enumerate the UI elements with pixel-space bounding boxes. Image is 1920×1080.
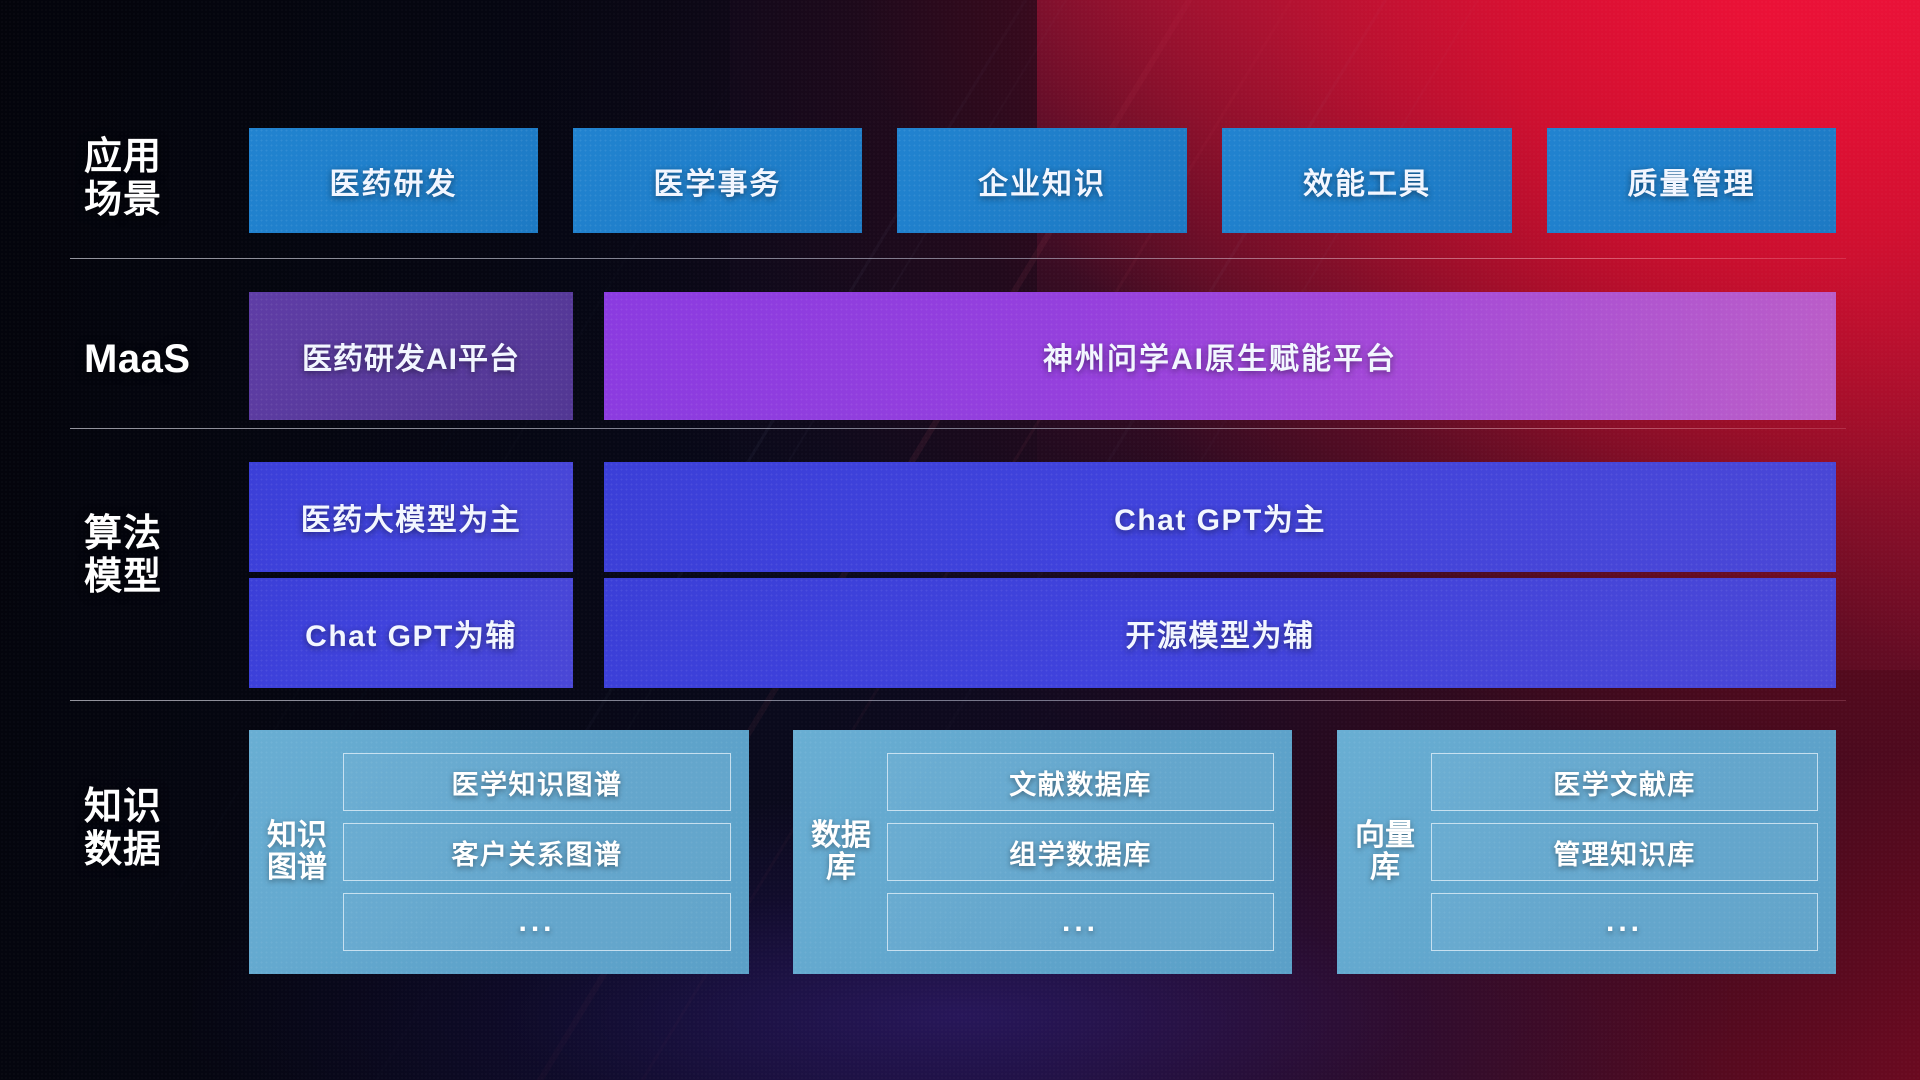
diagram-canvas: 应用 场景 医药研发 医学事务 企业知识 效能工具 质量管理 MaaS 医药研发…	[0, 0, 1920, 1080]
maas-box-shenzhou-wenxue-platform[interactable]: 神州问学AI原生赋能平台	[604, 292, 1836, 420]
row-label-application-line2: 场景	[84, 179, 224, 222]
row-label-maas: MaaS	[84, 337, 224, 382]
app-box-quality-management[interactable]: 质量管理	[1547, 128, 1836, 233]
divider-maas-algorithm	[70, 428, 1846, 429]
knowledge-panel-graph-label: 知识图谱	[265, 820, 329, 885]
row-label-algorithm-line1: 算法	[84, 513, 224, 556]
knowledge-item-medical-literature-store[interactable]: 医学文献库	[1431, 753, 1818, 811]
row-label-algorithm-line2: 模型	[84, 556, 224, 599]
knowledge-item-graph-more[interactable]: ...	[343, 893, 731, 951]
knowledge-item-vector-store-more[interactable]: ...	[1431, 893, 1818, 951]
algo-box-chatgpt-primary[interactable]: Chat GPT为主	[604, 462, 1836, 572]
knowledge-panel-database-items: 文献数据库 组学数据库 ...	[873, 753, 1274, 951]
app-box-medical-affairs[interactable]: 医学事务	[573, 128, 862, 233]
knowledge-item-medical-knowledge-graph[interactable]: 医学知识图谱	[343, 753, 731, 811]
row-label-knowledge-line1: 知识	[84, 786, 224, 829]
knowledge-panel-database-label: 数据库	[809, 820, 873, 885]
app-box-efficiency-tools[interactable]: 效能工具	[1222, 128, 1512, 233]
knowledge-panel-vector-store-items: 医学文献库 管理知识库 ...	[1417, 753, 1818, 951]
row-label-application: 应用 场景	[84, 136, 224, 222]
maas-box-pharma-ai-platform[interactable]: 医药研发AI平台	[249, 292, 573, 420]
row-label-application-line1: 应用	[84, 136, 224, 179]
app-box-enterprise-knowledge[interactable]: 企业知识	[897, 128, 1187, 233]
divider-algorithm-knowledge	[70, 700, 1846, 701]
knowledge-panel-vector-store-label: 向量库	[1353, 820, 1417, 885]
knowledge-panel-database[interactable]: 数据库 文献数据库 组学数据库 ...	[793, 730, 1292, 974]
knowledge-item-omics-database[interactable]: 组学数据库	[887, 823, 1274, 881]
algo-box-opensource-secondary[interactable]: 开源模型为辅	[604, 578, 1836, 688]
knowledge-panel-graph-items: 医学知识图谱 客户关系图谱 ...	[329, 753, 731, 951]
knowledge-item-management-knowledge-store[interactable]: 管理知识库	[1431, 823, 1818, 881]
row-label-knowledge: 知识 数据	[84, 786, 224, 872]
divider-application-maas	[70, 258, 1846, 259]
algo-box-chatgpt-secondary[interactable]: Chat GPT为辅	[249, 578, 573, 688]
knowledge-item-database-more[interactable]: ...	[887, 893, 1274, 951]
algo-box-pharma-large-model-primary[interactable]: 医药大模型为主	[249, 462, 573, 572]
knowledge-panel-vector-store[interactable]: 向量库 医学文献库 管理知识库 ...	[1337, 730, 1836, 974]
knowledge-item-customer-relation-graph[interactable]: 客户关系图谱	[343, 823, 731, 881]
knowledge-item-literature-database[interactable]: 文献数据库	[887, 753, 1274, 811]
knowledge-panel-graph[interactable]: 知识图谱 医学知识图谱 客户关系图谱 ...	[249, 730, 749, 974]
row-label-knowledge-line2: 数据	[84, 829, 224, 872]
app-box-pharma-rd[interactable]: 医药研发	[249, 128, 538, 233]
row-label-algorithm: 算法 模型	[84, 513, 224, 599]
